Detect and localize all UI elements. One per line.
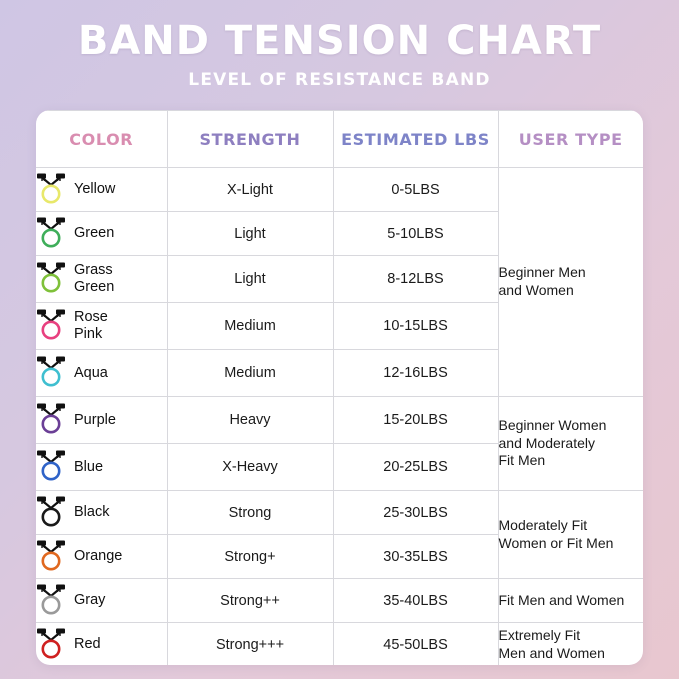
cell-color: Purple [36, 397, 167, 444]
resistance-band-icon [36, 308, 66, 344]
table-header: COLOR STRENGTH ESTIMATED LBS USER TYPE [36, 111, 643, 168]
cell-user-type: Beginner Womenand ModeratelyFit Men [498, 397, 643, 491]
resistance-band-icon [36, 495, 66, 531]
cell-color: Gray [36, 579, 167, 623]
table-row: BlackStrong25-30LBSModerately FitWomen o… [36, 491, 643, 535]
cell-strength: Light [167, 212, 333, 256]
cell-estimated-lbs: 0-5LBS [333, 168, 498, 212]
resistance-band-icon [36, 261, 66, 297]
cell-strength: Medium [167, 350, 333, 397]
cell-color: Green [36, 212, 167, 256]
cell-estimated-lbs: 20-25LBS [333, 444, 498, 491]
cell-estimated-lbs: 35-40LBS [333, 579, 498, 623]
band-color-label: Gray [74, 592, 105, 609]
cell-estimated-lbs: 5-10LBS [333, 212, 498, 256]
table-row: YellowX-Light0-5LBSBeginner Menand Women [36, 168, 643, 212]
cell-color: GrassGreen [36, 256, 167, 303]
header-row: COLOR STRENGTH ESTIMATED LBS USER TYPE [36, 111, 643, 168]
resistance-band-icon [36, 402, 66, 438]
resistance-band-icon [36, 539, 66, 575]
cell-color: Aqua [36, 350, 167, 397]
cell-estimated-lbs: 25-30LBS [333, 491, 498, 535]
cell-user-type: Moderately FitWomen or Fit Men [498, 491, 643, 579]
cell-strength: Strong [167, 491, 333, 535]
table-row: PurpleHeavy15-20LBSBeginner Womenand Mod… [36, 397, 643, 444]
column-header-strength: STRENGTH [167, 111, 333, 168]
resistance-band-icon [36, 583, 66, 619]
page-title: BAND TENSION CHART [0, 0, 679, 64]
cell-strength: Strong++ [167, 579, 333, 623]
poster: BAND TENSION CHART LEVEL OF RESISTANCE B… [0, 0, 679, 679]
cell-user-type: Beginner Menand Women [498, 168, 643, 397]
cell-strength: Strong+ [167, 535, 333, 579]
resistance-band-icon [36, 449, 66, 485]
cell-user-type: Fit Men and Women [498, 579, 643, 623]
resistance-band-icon [36, 627, 66, 663]
page-subtitle: LEVEL OF RESISTANCE BAND [0, 70, 679, 90]
band-color-label: Orange [74, 548, 122, 565]
resistance-band-icon [36, 355, 66, 391]
band-color-label: Black [74, 504, 109, 521]
cell-strength: X-Heavy [167, 444, 333, 491]
cell-estimated-lbs: 10-15LBS [333, 303, 498, 350]
cell-color: Blue [36, 444, 167, 491]
resistance-band-icon [36, 216, 66, 252]
cell-color: RosePink [36, 303, 167, 350]
cell-estimated-lbs: 30-35LBS [333, 535, 498, 579]
cell-strength: Heavy [167, 397, 333, 444]
cell-color: Orange [36, 535, 167, 579]
band-color-label: Aqua [74, 365, 108, 382]
band-color-label: Blue [74, 459, 103, 476]
band-color-label: RosePink [74, 309, 108, 342]
column-header-lbs: ESTIMATED LBS [333, 111, 498, 168]
cell-estimated-lbs: 12-16LBS [333, 350, 498, 397]
chart-card: COLOR STRENGTH ESTIMATED LBS USER TYPE Y… [36, 110, 643, 665]
band-color-label: GrassGreen [74, 262, 114, 295]
band-tension-table: COLOR STRENGTH ESTIMATED LBS USER TYPE Y… [36, 110, 643, 665]
cell-strength: Medium [167, 303, 333, 350]
cell-user-type: Extremely FitMen and Women [498, 623, 643, 666]
band-color-label: Red [74, 636, 101, 653]
resistance-band-icon [36, 172, 66, 208]
cell-estimated-lbs: 45-50LBS [333, 623, 498, 666]
cell-color: Yellow [36, 168, 167, 212]
column-header-color: COLOR [36, 111, 167, 168]
table-body: YellowX-Light0-5LBSBeginner Menand Women… [36, 168, 643, 666]
cell-estimated-lbs: 15-20LBS [333, 397, 498, 444]
cell-color: Red [36, 623, 167, 666]
band-color-label: Purple [74, 412, 116, 429]
table-row: RedStrong+++45-50LBSExtremely FitMen and… [36, 623, 643, 666]
band-color-label: Green [74, 225, 114, 242]
cell-color: Black [36, 491, 167, 535]
column-header-user-type: USER TYPE [498, 111, 643, 168]
cell-strength: Strong+++ [167, 623, 333, 666]
band-color-label: Yellow [74, 181, 115, 198]
table-row: GrayStrong++35-40LBSFit Men and Women [36, 579, 643, 623]
cell-strength: Light [167, 256, 333, 303]
cell-estimated-lbs: 8-12LBS [333, 256, 498, 303]
cell-strength: X-Light [167, 168, 333, 212]
